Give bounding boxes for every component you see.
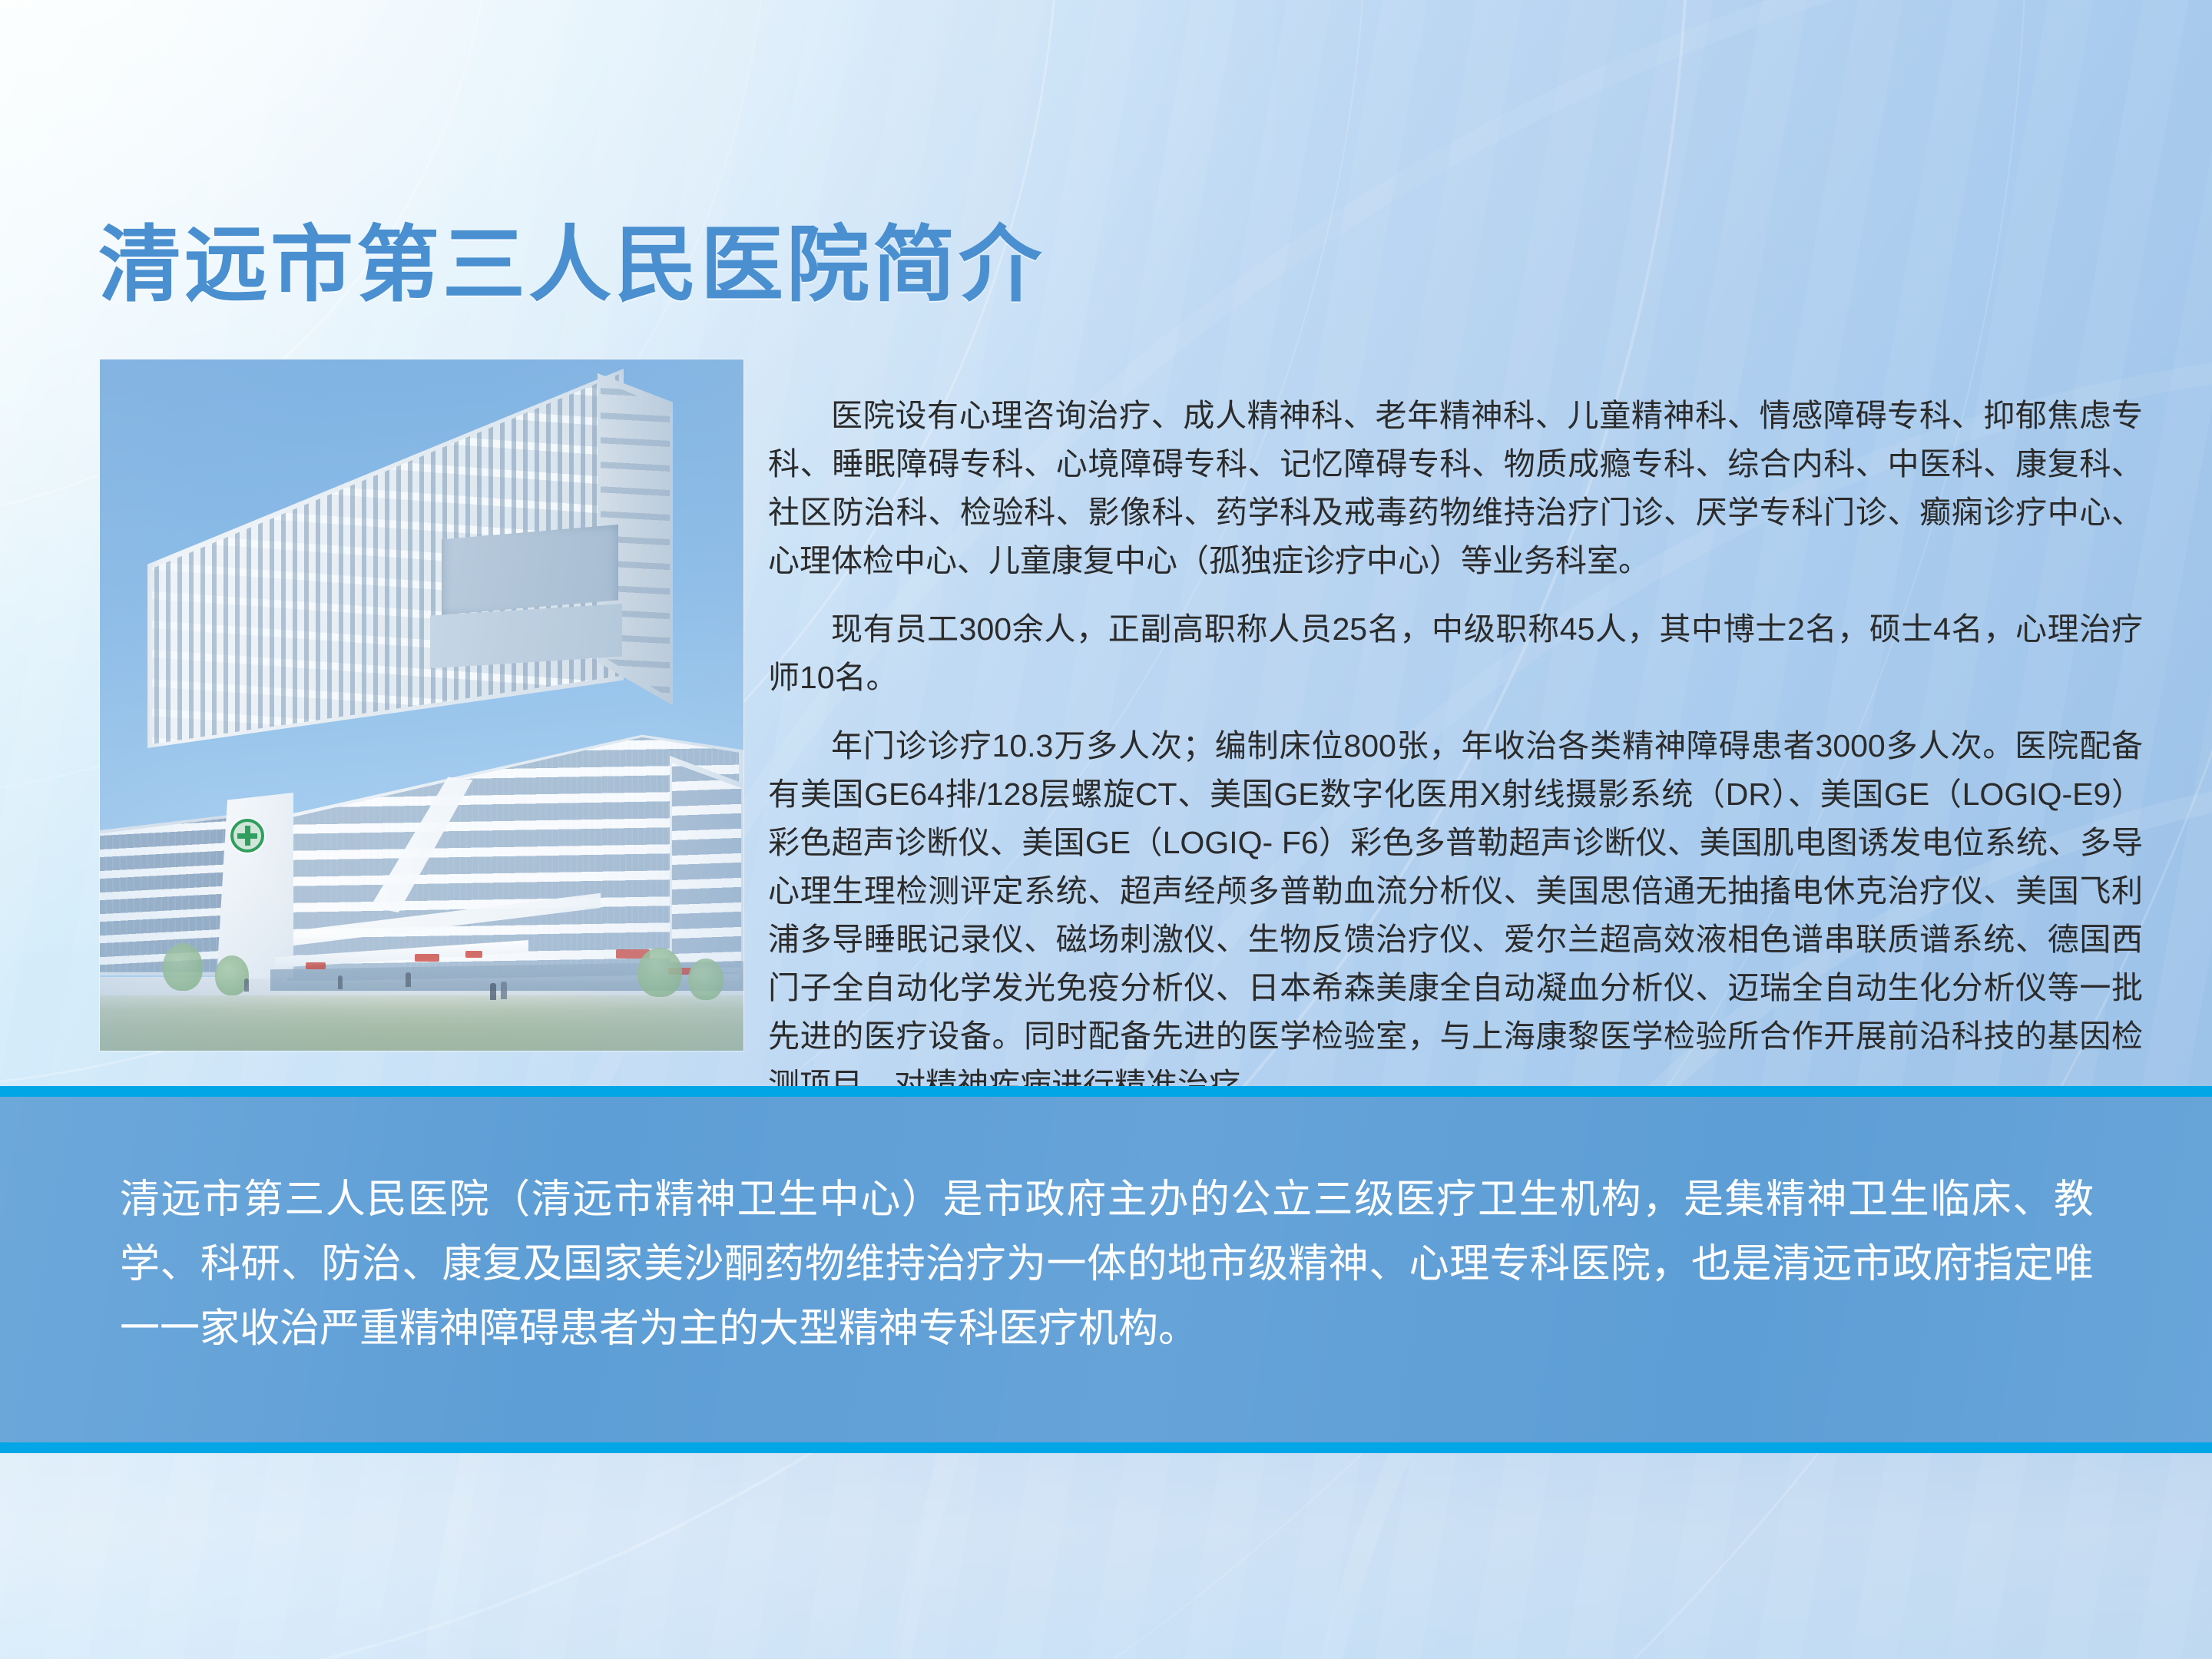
- intro-text-column: 医院设有心理咨询治疗、成人精神科、老年精神科、儿童精神科、情感障碍专科、抑郁焦虑…: [768, 392, 2143, 1109]
- intro-paragraph-departments: 医院设有心理咨询治疗、成人精神科、老年精神科、儿童精神科、情感障碍专科、抑郁焦虑…: [768, 392, 2143, 585]
- intro-paragraph-staff: 现有员工300余人，正副高职称人员25名，中级职称45人，其中博士2名，硕士4名…: [768, 605, 2143, 702]
- banner-text: 清远市第三人民医院（清远市精神卫生中心）是市政府主办的公立三级医疗卫生机构，是集…: [120, 1167, 2094, 1361]
- summary-banner: 清远市第三人民医院（清远市精神卫生中心）是市政府主办的公立三级医疗卫生机构，是集…: [0, 1086, 2212, 1453]
- photo-vignette: [100, 359, 743, 1051]
- slide-canvas: 清远市第三人民医院简介: [0, 0, 2212, 1659]
- page-title: 清远市第三人民医院简介: [98, 221, 1045, 308]
- intro-paragraph-equipment: 年门诊诊疗10.3万多人次；编制床位800张，年收治各类精神障碍患者3000多人…: [768, 722, 2143, 1109]
- hospital-building-image: [100, 359, 743, 1051]
